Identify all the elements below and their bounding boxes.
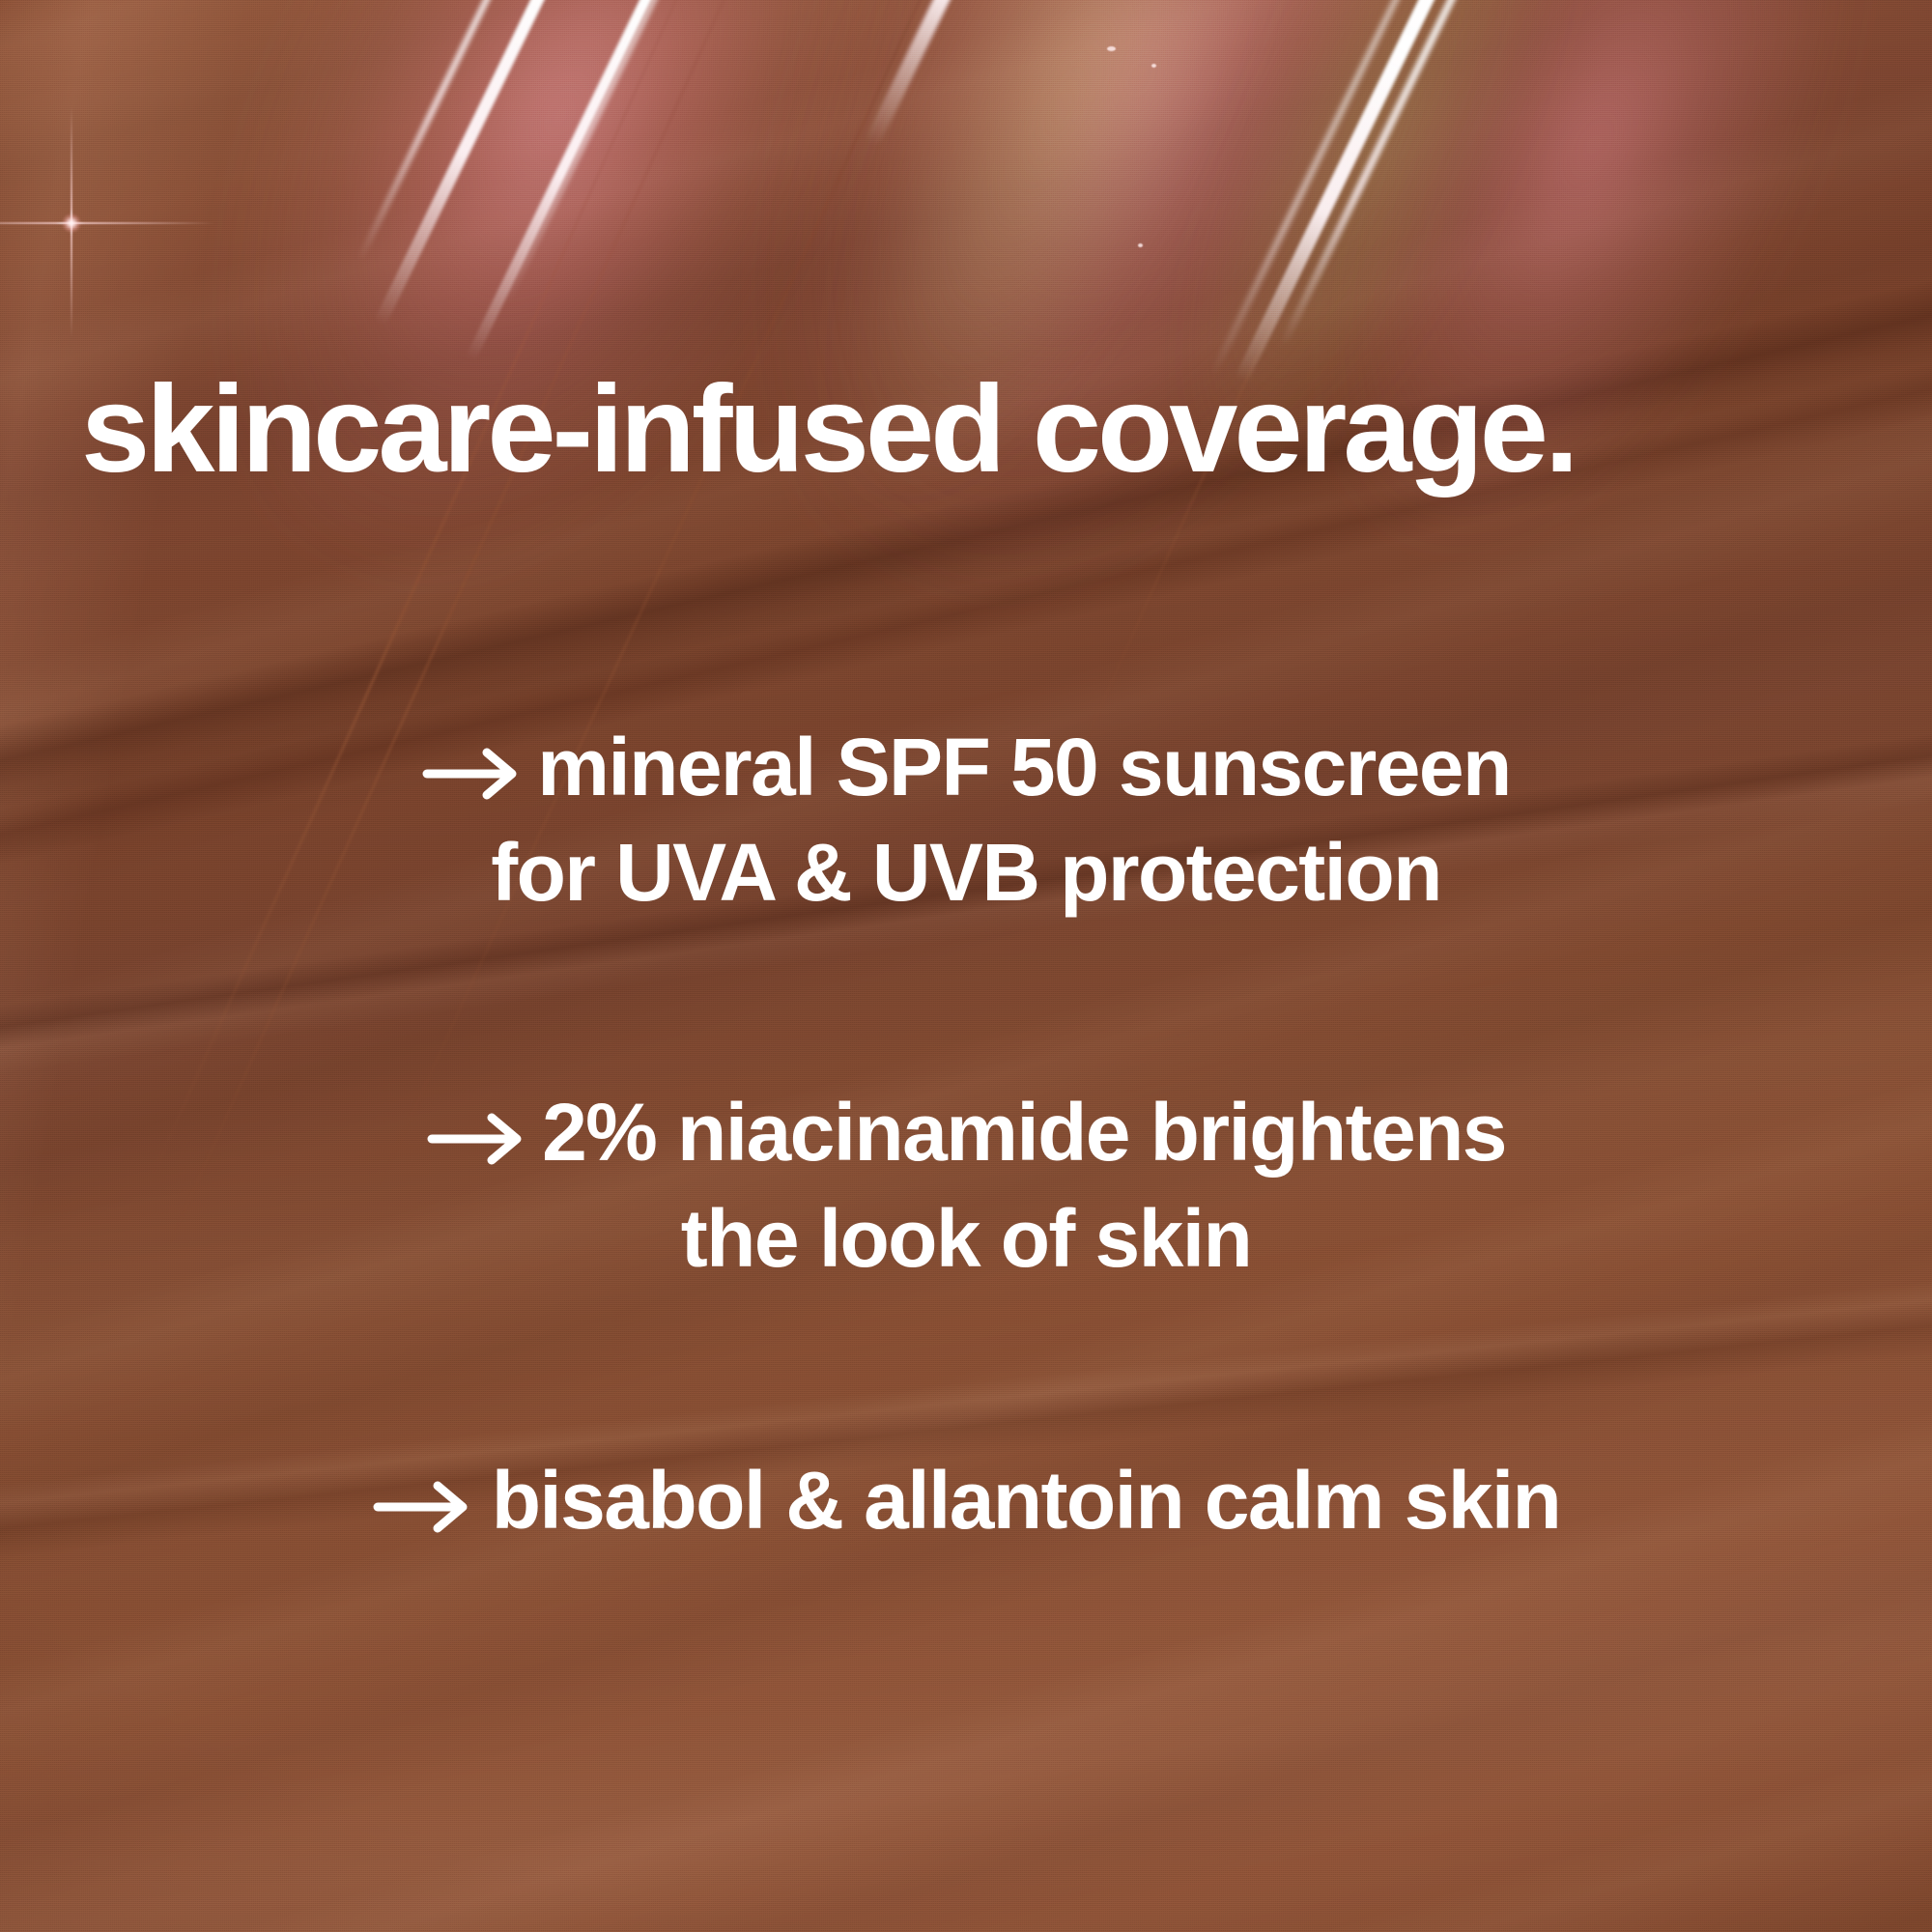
arrow-right-icon xyxy=(421,749,522,799)
benefit-item-1: mineral SPF 50 sunscreen for UVA & UVB p… xyxy=(0,715,1932,925)
benefits-list: mineral SPF 50 sunscreen for UVA & UVB p… xyxy=(0,715,1932,1553)
benefit-item-3-line-1: bisabol & allantoin calm skin xyxy=(0,1448,1932,1553)
marketing-card: skincare-infused coverage. mineral SPF 5… xyxy=(0,0,1932,1932)
content-layer: skincare-infused coverage. mineral SPF 5… xyxy=(0,0,1932,1932)
benefit-item-2-line-1: 2% niacinamide brightens xyxy=(0,1080,1932,1185)
benefit-item-3: bisabol & allantoin calm skin xyxy=(0,1448,1932,1553)
arrow-right-icon xyxy=(426,1114,526,1164)
page-title: skincare-infused coverage. xyxy=(81,365,1897,494)
benefit-item-2-text-1: 2% niacinamide brightens xyxy=(542,1087,1506,1178)
benefit-item-1-text-1: mineral SPF 50 sunscreen xyxy=(537,722,1510,812)
benefit-item-1-line-2: for UVA & UVB protection xyxy=(0,820,1932,925)
arrow-right-icon xyxy=(372,1482,472,1532)
benefit-item-2: 2% niacinamide brightens the look of ski… xyxy=(0,1080,1932,1291)
benefit-item-1-line-1: mineral SPF 50 sunscreen xyxy=(0,715,1932,820)
benefit-item-3-text-1: bisabol & allantoin calm skin xyxy=(492,1455,1561,1546)
benefit-item-2-line-2: the look of skin xyxy=(0,1186,1932,1292)
